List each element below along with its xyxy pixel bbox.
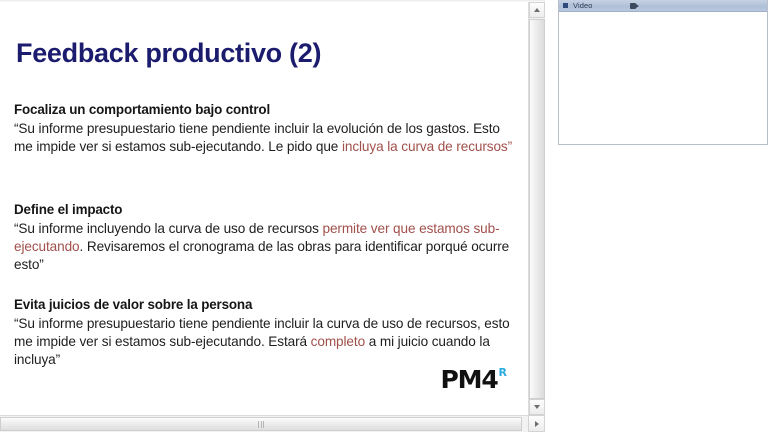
chevron-right-icon (535, 421, 539, 427)
horizontal-scrollbar-thumb[interactable] (0, 417, 522, 431)
section-heading: Focaliza un comportamiento bajo control (14, 102, 514, 117)
slide-section-2: Define el impacto “Su informe incluyendo… (14, 202, 514, 274)
body-text-highlighted: incluya la curva de recursos” (342, 139, 512, 154)
pm4-logo: PM4 R (441, 367, 507, 392)
video-camera-icon[interactable] (630, 3, 639, 9)
slide-viewer-pane: Feedback productivo (2) Focaliza un comp… (0, 0, 545, 432)
video-panel: Video (558, 0, 768, 145)
application-window: Feedback productivo (2) Focaliza un comp… (0, 0, 768, 432)
scroll-down-button[interactable] (529, 399, 545, 415)
grip-icon (258, 421, 264, 428)
slide-section-3: Evita juicios de valor sobre la persona … (14, 297, 514, 369)
body-text-highlighted: completo (311, 334, 365, 349)
scroll-right-button[interactable] (528, 415, 545, 432)
vertical-scrollbar[interactable] (528, 2, 545, 415)
scroll-up-button[interactable] (529, 2, 545, 18)
section-heading: Evita juicios de valor sobre la persona (14, 297, 514, 312)
chevron-down-icon (534, 405, 540, 409)
section-body: “Su informe presupuestario tiene pendien… (14, 120, 514, 156)
pm4-logo-wordmark: PM4 (441, 367, 498, 392)
video-panel-title: Video (573, 1, 593, 10)
video-panel-content[interactable] (559, 12, 767, 144)
chevron-up-icon (534, 8, 540, 12)
section-body: “Su informe incluyendo la curva de uso d… (14, 220, 514, 274)
body-text-plain: . Revisaremos el cronograma de las obras… (14, 239, 509, 272)
pm4-logo-registered-mark: R (499, 367, 507, 378)
right-pane: Video (545, 0, 768, 432)
slide-canvas: Feedback productivo (2) Focaliza un comp… (0, 2, 528, 412)
page-title: Feedback productivo (2) (16, 38, 321, 69)
section-body: “Su informe presupuestario tiene pendien… (14, 315, 514, 369)
section-heading: Define el impacto (14, 202, 514, 217)
video-panel-titlebar[interactable]: Video (559, 0, 767, 12)
square-icon (563, 3, 568, 8)
slide-section-1: Focaliza un comportamiento bajo control … (14, 102, 514, 156)
right-pane-gutter (545, 0, 558, 432)
body-text-plain: “Su informe incluyendo la curva de uso d… (14, 221, 322, 236)
horizontal-scrollbar[interactable] (0, 415, 528, 432)
vertical-scrollbar-thumb[interactable] (529, 19, 545, 399)
